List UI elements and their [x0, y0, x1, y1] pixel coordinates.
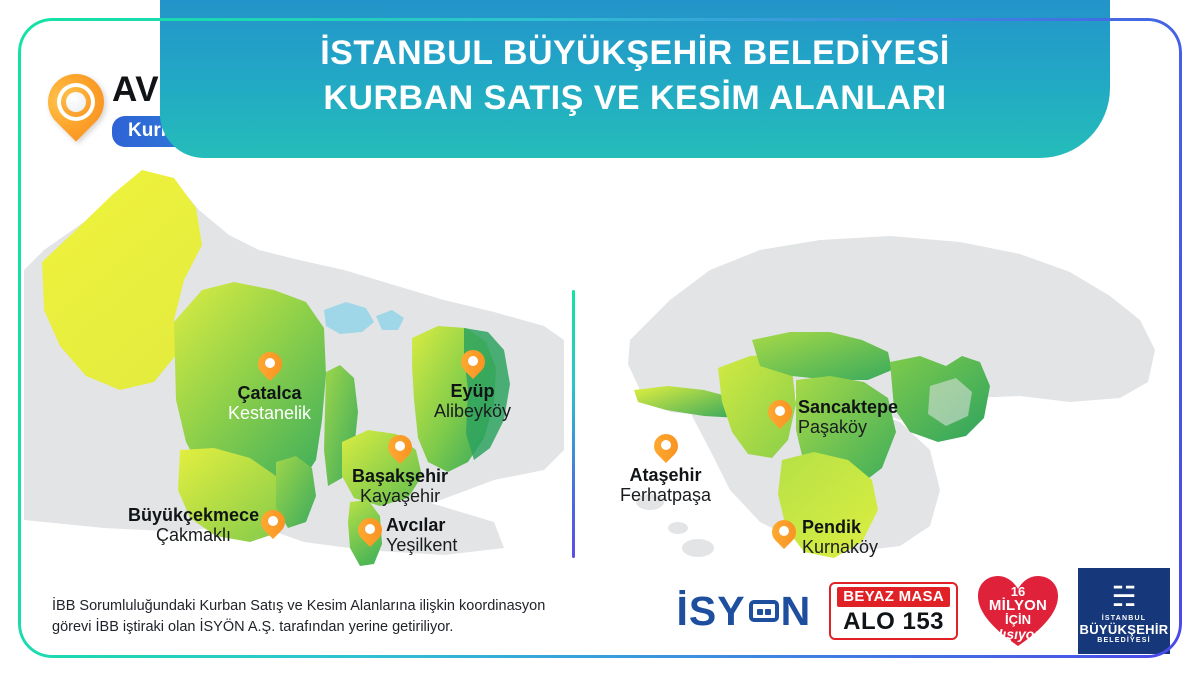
isyon-square-icon: [749, 600, 779, 622]
location-pin-icon: [48, 74, 104, 148]
district-name: Çatalca: [238, 384, 302, 404]
district-name: Pendik: [802, 518, 878, 538]
map-pin-icon: [258, 352, 282, 384]
footer-note: İBB Sorumluluğundaki Kurban Satış ve Kes…: [52, 596, 652, 638]
district-name: Başakşehir: [352, 467, 448, 487]
district-sancaktepe: Sancaktepe Paşaköy: [768, 398, 898, 438]
district-area: Ferhatpaşa: [620, 486, 711, 506]
district-name: Avcılar: [386, 516, 457, 536]
map-anadolu-svg: [600, 150, 1160, 580]
beyaz-masa-label: BEYAZ MASA: [837, 587, 950, 607]
footer-note-line1: İBB Sorumluluğundaki Kurban Satış ve Kes…: [52, 596, 652, 617]
district-name: Ataşehir: [630, 466, 702, 486]
district-avcilar: Avcılar Yeşilkent: [358, 516, 457, 556]
ibb-line1: İSTANBUL: [1102, 615, 1146, 622]
isyon-logo: İSY N: [677, 588, 812, 635]
district-eyup: Eyüp Alibeyköy: [434, 350, 511, 422]
infographic-root: İSTANBUL BÜYÜKŞEHİR BELEDİYESİ KURBAN SA…: [0, 0, 1200, 676]
header-banner: İSTANBUL BÜYÜKŞEHİR BELEDİYESİ KURBAN SA…: [160, 0, 1110, 158]
alo-153-label: ALO 153: [837, 610, 950, 634]
district-buyukcekmece: Büyükçekmece Çakmaklı: [128, 506, 285, 546]
footer-logos: İSY N BEYAZ MASA ALO 153 16 MİLYON İÇİN …: [677, 574, 1171, 648]
map-pin-icon: [768, 400, 792, 432]
district-area: Paşaköy: [798, 418, 898, 438]
map-pin-icon: [358, 518, 382, 550]
beyaz-masa-logo: BEYAZ MASA ALO 153: [829, 582, 958, 640]
isyon-suffix: N: [781, 588, 812, 635]
district-name: Eyüp: [451, 382, 495, 402]
ibb-line2: BÜYÜKŞEHİR: [1080, 622, 1169, 637]
heart-logo: 16 MİLYON İÇİN Çalışıyoruz: [976, 574, 1060, 648]
district-area: Kurnaköy: [802, 538, 878, 558]
heart-line3: İÇİN: [1005, 613, 1031, 626]
district-catalca: Çatalca Kestanelik: [228, 352, 311, 424]
heart-line2: MİLYON: [989, 598, 1047, 613]
header-title-line1: İSTANBUL BÜYÜKŞEHİR BELEDİYESİ: [320, 31, 950, 76]
map-pin-icon: [772, 520, 796, 552]
map-pin-icon: [654, 434, 678, 466]
island: [682, 539, 714, 557]
district-atasehir: Ataşehir Ferhatpaşa: [620, 434, 711, 506]
footer-note-line2: görevi İBB iştiraki olan İSYÖN A.Ş. tara…: [52, 617, 652, 638]
ibb-logo: ☵ İSTANBUL BÜYÜKŞEHİR BELEDİYESİ: [1078, 568, 1170, 654]
district-area: Çakmaklı: [156, 526, 231, 546]
district-area: Yeşilkent: [386, 536, 457, 556]
heart-line4: Çalışıyoruz: [981, 627, 1056, 641]
district-name: Sancaktepe: [798, 398, 898, 418]
header-title-line2: KURBAN SATIŞ VE KESİM ALANLARI: [323, 76, 946, 121]
island: [668, 522, 688, 534]
district-pendik: Pendik Kurnaköy: [772, 518, 878, 558]
map-pin-icon: [388, 435, 412, 467]
map-pin-icon: [261, 510, 285, 542]
mosque-icon: ☵: [1111, 583, 1136, 611]
panel-divider: [572, 290, 575, 558]
ibb-line3: BELEDİYESİ: [1097, 637, 1151, 644]
district-basaksehir: Başakşehir Kayaşehir: [352, 435, 448, 507]
district-area: Kestanelik: [228, 404, 311, 424]
district-name: Büyükçekmece: [128, 506, 259, 526]
map-pin-icon: [461, 350, 485, 382]
map-anadolu: [600, 150, 1160, 580]
district-area: Kayaşehir: [360, 487, 440, 507]
district-area: Alibeyköy: [434, 402, 511, 422]
isyon-prefix: İSY: [677, 588, 746, 635]
